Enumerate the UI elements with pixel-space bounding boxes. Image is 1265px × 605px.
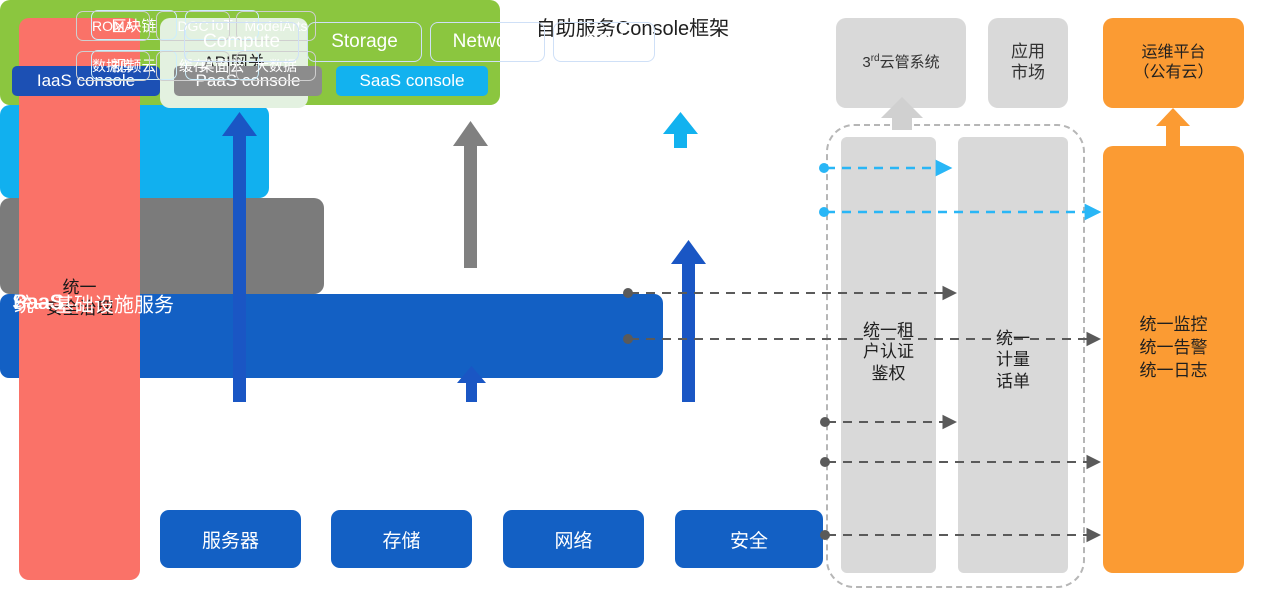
arrow-saas-to-saas-console bbox=[663, 112, 698, 148]
app-market-box: 应用 市场 bbox=[988, 18, 1068, 108]
third-party-cloud-mgmt-box: 3rd云管系统 bbox=[836, 18, 966, 108]
infra-item-network[interactable]: Network bbox=[430, 22, 545, 62]
ops-line-3: 统一日志 bbox=[1140, 360, 1208, 383]
unified-monitoring-column: 统一监控 统一告警 统一日志 bbox=[1103, 146, 1244, 573]
unified-metering-column: 统一 计量 话单 bbox=[958, 137, 1068, 573]
paas-item-roma[interactable]: ROMA bbox=[76, 11, 150, 41]
infra-item-cce[interactable]: CCE bbox=[553, 22, 655, 62]
third-cloud-label: 3rd云管系统 bbox=[862, 53, 939, 72]
infrastructure-label: 统一基础设施服务 bbox=[14, 288, 174, 317]
metering-line-3: 话单 bbox=[996, 371, 1030, 392]
metering-line-1: 统一 bbox=[996, 328, 1030, 349]
ops-platform-line-2: （公有云） bbox=[1133, 63, 1213, 83]
saas-console-button[interactable]: SaaS console bbox=[336, 66, 488, 96]
ops-platform-box: 运维平台 （公有云） bbox=[1103, 18, 1244, 108]
resource-storage-box[interactable]: 存储 bbox=[331, 510, 472, 568]
arrow-ops-column-to-ops-platform bbox=[1156, 108, 1190, 148]
ops-line-1: 统一监控 bbox=[1140, 314, 1208, 337]
app-market-line-2: 市场 bbox=[1011, 63, 1045, 84]
paas-item-database[interactable]: 数据库 bbox=[76, 51, 150, 81]
metering-line-2: 计量 bbox=[996, 349, 1030, 370]
unified-tenant-auth-column: 统一租 户认证 鉴权 bbox=[841, 137, 936, 573]
auth-line-2: 户认证 bbox=[863, 341, 914, 362]
architecture-diagram: 统一 安全治理 API网关 自助服务Console框架 IaaS console… bbox=[0, 0, 1265, 605]
app-market-line-1: 应用 bbox=[1011, 42, 1045, 63]
resource-network-box[interactable]: 网络 bbox=[503, 510, 644, 568]
ops-line-2: 统一告警 bbox=[1140, 337, 1208, 360]
infra-item-compute[interactable]: Compute bbox=[184, 22, 299, 62]
auth-line-3: 鉴权 bbox=[863, 363, 914, 384]
arrow-paas-to-console bbox=[453, 121, 488, 268]
infra-item-storage[interactable]: Storage bbox=[307, 22, 422, 62]
ops-platform-line-1: 运维平台 bbox=[1133, 43, 1213, 63]
auth-line-1: 统一租 bbox=[863, 320, 914, 341]
arrow-infra-to-saas bbox=[671, 240, 706, 402]
resource-security-box[interactable]: 安全 bbox=[675, 510, 823, 568]
resource-server-box[interactable]: 服务器 bbox=[160, 510, 301, 568]
